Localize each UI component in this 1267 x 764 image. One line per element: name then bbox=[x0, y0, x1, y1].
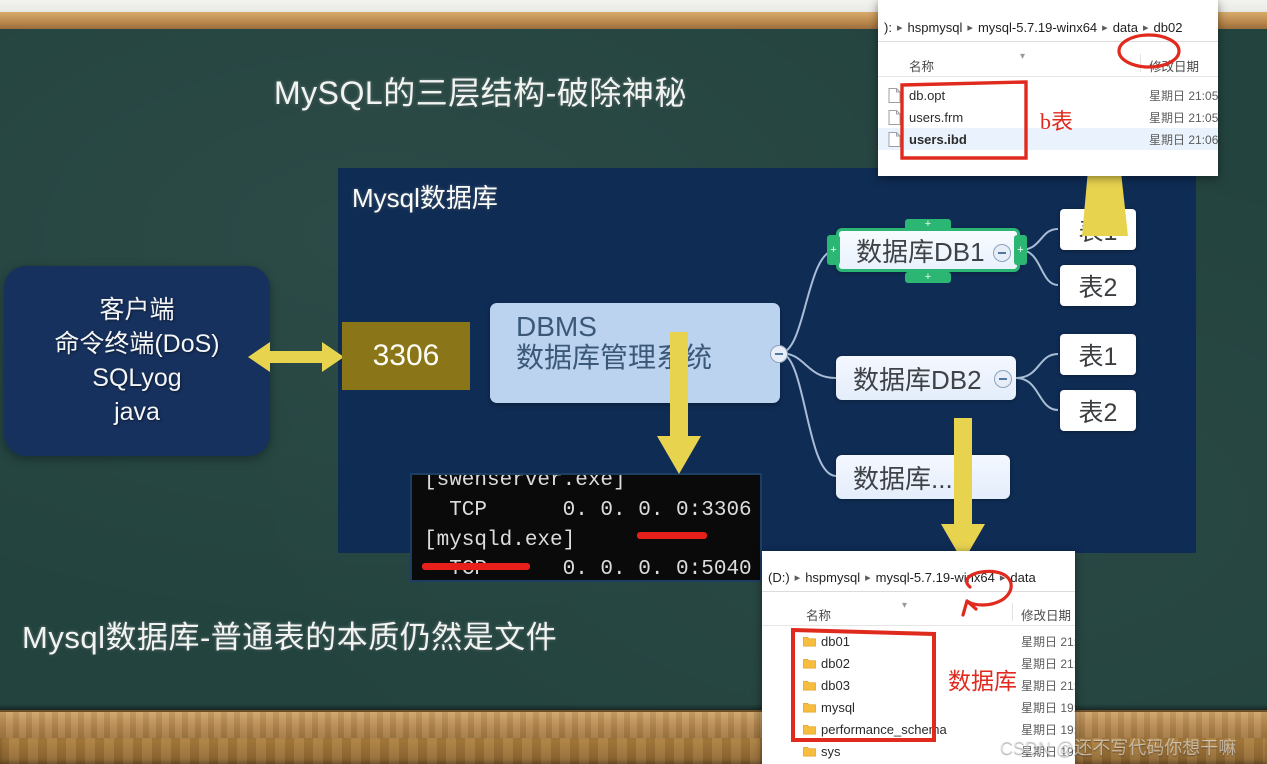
watermark: CSDN @还不写代码你想干嘛 bbox=[1000, 734, 1236, 760]
client-line-1: 客户端 bbox=[99, 294, 174, 326]
file-explorer-db02[interactable]: ): ▸ hspmysql ▸ mysql-5.7.19-winx64 ▸ da… bbox=[878, 0, 1218, 176]
client-box: 客户端 命令终端(DoS) SQLyog java bbox=[4, 266, 270, 456]
dbms-box: DBMS 数据库管理系统 bbox=[490, 303, 780, 403]
terminal-line-3: [mysqld.exe] bbox=[424, 526, 760, 556]
breadcrumb-item-1[interactable]: hspmysql bbox=[804, 570, 861, 585]
file-icon bbox=[888, 110, 901, 125]
breadcrumb-item-3[interactable]: data bbox=[1009, 570, 1036, 585]
db1-handle-left[interactable]: + bbox=[827, 235, 840, 265]
column-divider bbox=[1012, 603, 1013, 621]
folder-name: db01 bbox=[821, 634, 850, 649]
folder-name: db02 bbox=[821, 656, 850, 671]
breadcrumb-separator: ▸ bbox=[996, 571, 1010, 584]
db2-collapse-toggle[interactable] bbox=[994, 370, 1012, 388]
folder-icon bbox=[803, 700, 816, 715]
dbms-collapse-toggle[interactable] bbox=[770, 345, 788, 363]
list-item[interactable]: db03 星期日 21:2 bbox=[762, 674, 1075, 696]
folder-name: mysql bbox=[821, 700, 855, 715]
table-node-label: 表2 bbox=[1079, 268, 1118, 304]
port-label: 3306 bbox=[373, 339, 440, 373]
file-name: users.frm bbox=[909, 110, 963, 125]
client-line-2: 命令终端(DoS) bbox=[54, 328, 219, 360]
explorer-top-column-headers: 名称 ▾ 修改日期 bbox=[878, 50, 1218, 77]
breadcrumb-separator: ▸ bbox=[893, 21, 907, 34]
db1-collapse-toggle[interactable] bbox=[993, 244, 1011, 262]
client-line-3: SQLyog bbox=[92, 362, 181, 394]
breadcrumb-separator: ▸ bbox=[791, 571, 805, 584]
list-item[interactable]: db02 星期日 21:0 bbox=[762, 652, 1075, 674]
dbms-title: DBMS bbox=[516, 311, 780, 342]
explorer-bottom-column-headers: 名称 ▾ 修改日期 bbox=[762, 599, 1075, 626]
table-node-db2-t2[interactable]: 表2 bbox=[1060, 390, 1136, 431]
dbms-subtitle: 数据库管理系统 bbox=[516, 342, 780, 373]
table-node-label: 表1 bbox=[1079, 337, 1118, 373]
file-name: db.opt bbox=[909, 88, 945, 103]
bidirectional-arrow-icon bbox=[248, 340, 344, 374]
breadcrumb-separator: ▸ bbox=[861, 571, 875, 584]
breadcrumb-item-2[interactable]: mysql-5.7.19-winx64 bbox=[875, 570, 996, 585]
breadcrumb-item-0[interactable]: (D:) bbox=[767, 570, 791, 585]
annotation-database: 数据库 bbox=[948, 662, 1017, 696]
terminal-underline-3306 bbox=[637, 532, 707, 539]
db-node-db1-label: 数据库DB1 bbox=[839, 232, 985, 269]
breadcrumb-separator: ▸ bbox=[1098, 21, 1112, 34]
breadcrumb-separator: ▸ bbox=[1139, 21, 1153, 34]
terminal-line-1: [swenserver.exe] bbox=[424, 473, 760, 496]
netstat-terminal: [swenserver.exe] TCP 0. 0. 0. 0:3306 [my… bbox=[410, 473, 762, 582]
list-item[interactable]: db01 星期日 21:0 bbox=[762, 630, 1075, 652]
folder-date: 星期日 21:0 bbox=[1021, 655, 1075, 672]
table-node-db1-t2[interactable]: 表2 bbox=[1060, 265, 1136, 306]
file-name: users.ibd bbox=[909, 132, 967, 147]
port-box: 3306 bbox=[342, 322, 470, 390]
table-node-label: 表2 bbox=[1079, 393, 1118, 429]
file-date: 星期日 21:06 bbox=[1149, 131, 1218, 148]
db-node-db2-label: 数据库DB2 bbox=[836, 360, 982, 397]
table-node-db2-t1[interactable]: 表1 bbox=[1060, 334, 1136, 375]
file-icon bbox=[888, 132, 901, 147]
terminal-line-2: TCP 0. 0. 0. 0:3306 bbox=[424, 496, 760, 526]
annotation-b-table: b表 bbox=[1040, 104, 1073, 136]
db1-handle-right[interactable]: + bbox=[1014, 235, 1027, 265]
file-date: 星期日 21:05 bbox=[1149, 87, 1218, 104]
column-header-name[interactable]: 名称 bbox=[806, 605, 831, 624]
terminal-underline-mysqld bbox=[422, 563, 530, 570]
db1-handle-bottom[interactable]: + bbox=[905, 272, 951, 283]
arrow-down-to-terminal-icon bbox=[656, 332, 702, 482]
file-date: 星期日 21:05 bbox=[1149, 109, 1218, 126]
client-line-4: java bbox=[114, 396, 160, 428]
slide-screenshot: MySQL的三层结构-破除神秘 Mysql数据库-普通表的本质仍然是文件 Mys… bbox=[0, 0, 1267, 764]
folder-name: performance_schema bbox=[821, 722, 947, 737]
folder-icon bbox=[803, 744, 816, 759]
db-node-db1[interactable]: 数据库DB1 bbox=[836, 228, 1020, 272]
column-divider bbox=[1140, 54, 1141, 72]
column-header-name[interactable]: 名称 bbox=[909, 56, 934, 75]
breadcrumb-item-2[interactable]: mysql-5.7.19-winx64 bbox=[977, 20, 1098, 35]
breadcrumb-item-4[interactable]: db02 bbox=[1153, 20, 1184, 35]
db1-handle-top[interactable]: + bbox=[905, 219, 951, 230]
db-node-db2[interactable]: 数据库DB2 bbox=[836, 356, 1016, 400]
list-item[interactable]: db.opt 星期日 21:05 bbox=[878, 84, 1218, 106]
explorer-bottom-breadcrumb[interactable]: (D:) ▸ hspmysql ▸ mysql-5.7.19-winx64 ▸ … bbox=[762, 564, 1075, 592]
folder-date: 星期日 19:0 bbox=[1021, 699, 1075, 716]
folder-icon bbox=[803, 678, 816, 693]
explorer-top-breadcrumb[interactable]: ): ▸ hspmysql ▸ mysql-5.7.19-winx64 ▸ da… bbox=[878, 14, 1218, 42]
sort-ascending-icon: ▾ bbox=[1020, 51, 1025, 62]
breadcrumb-item-1[interactable]: hspmysql bbox=[906, 20, 963, 35]
folder-name: sys bbox=[821, 744, 841, 759]
folder-icon bbox=[803, 656, 816, 671]
column-header-date[interactable]: 修改日期 bbox=[1021, 605, 1071, 624]
file-explorer-data[interactable]: (D:) ▸ hspmysql ▸ mysql-5.7.19-winx64 ▸ … bbox=[762, 551, 1075, 764]
arrow-down-to-data-folder-icon bbox=[940, 418, 986, 570]
breadcrumb-item-3[interactable]: data bbox=[1112, 20, 1139, 35]
breadcrumb-item-0[interactable]: ): bbox=[883, 20, 893, 35]
folder-icon bbox=[803, 722, 816, 737]
column-header-date[interactable]: 修改日期 bbox=[1149, 56, 1199, 75]
sort-ascending-icon: ▾ bbox=[902, 600, 907, 611]
breadcrumb-separator: ▸ bbox=[963, 21, 977, 34]
folder-name: db03 bbox=[821, 678, 850, 693]
file-icon bbox=[888, 88, 901, 103]
folder-icon bbox=[803, 634, 816, 649]
list-item[interactable]: mysql 星期日 19:0 bbox=[762, 696, 1075, 718]
folder-date: 星期日 21:0 bbox=[1021, 633, 1075, 650]
folder-date: 星期日 21:2 bbox=[1021, 677, 1075, 694]
